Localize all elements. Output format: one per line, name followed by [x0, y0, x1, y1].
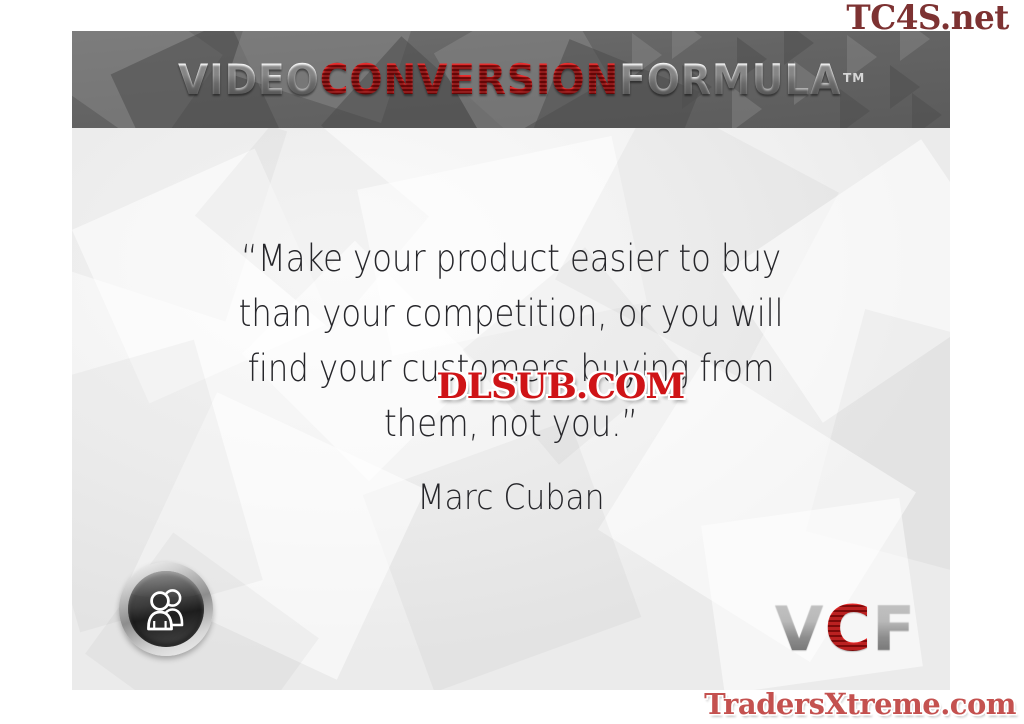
slide-header-band: VIDEOCONVERSIONFORMULATM: [72, 31, 950, 128]
logo-word-formula: FORMULA: [619, 59, 841, 101]
vcf-letter-v: V: [775, 592, 825, 665]
vcf-letter-f: F: [872, 592, 916, 665]
header-arrow: [912, 93, 942, 128]
watermark-tradersxtreme: TradersXtreme.com: [704, 690, 1016, 719]
users-group-icon: [141, 587, 191, 631]
quote-attribution: Marc Cuban: [170, 476, 852, 520]
logo-word-conversion: CONVERSION: [320, 59, 619, 101]
presentation-slide: VIDEOCONVERSIONFORMULATM “Make your prod…: [72, 31, 950, 690]
vcf-letter-c: C: [825, 592, 872, 665]
users-group-badge[interactable]: [119, 562, 213, 656]
watermark-tc4s: TC4S.net: [846, 1, 1008, 35]
quote-line: “Make your product easier to buy: [177, 231, 844, 286]
quote-line: than your competition, or you will: [177, 286, 844, 341]
trademark-symbol: TM: [843, 72, 865, 84]
product-logo: VIDEOCONVERSIONFORMULATM: [178, 59, 865, 101]
vcf-brand-logo: VCF: [775, 598, 917, 660]
watermark-dlsub: DLSUB.COM: [436, 369, 684, 404]
screenshot-canvas: VIDEOCONVERSIONFORMULATM “Make your prod…: [0, 0, 1024, 724]
logo-word-video: VIDEO: [178, 59, 320, 101]
users-group-badge-inner: [128, 571, 204, 647]
